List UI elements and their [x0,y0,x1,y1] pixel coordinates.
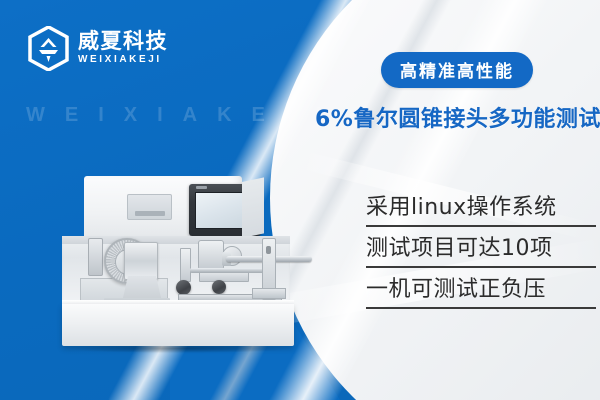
feature-label: 一机可测试正负压 [366,277,596,303]
hexagon-mountain-logo-icon [28,26,69,71]
product-image: 6%鲁尔圆锥接头多功能测试仪 ♨ [62,176,312,366]
machine-knob[interactable] [176,280,191,295]
machine-housing-side [242,177,264,238]
machine-fixture [180,248,191,282]
feature-list: 采用linux操作系统 测试项目可达10项 一机可测试正负压 [366,192,596,315]
machine-left-clamp [88,238,103,276]
hmi-brand-mark [196,186,207,189]
list-item: 测试项目可达10项 [366,233,596,274]
brand-logo-text: 威夏科技 WEIXIAKEJI [78,30,168,68]
brand-name-en: WEIXIAKEJI [78,52,168,67]
machine-knob[interactable] [212,280,226,294]
list-item: 采用linux操作系统 [366,192,596,233]
machine-base: 6%鲁尔圆锥接头多功能测试仪 ♨ [62,304,294,346]
machine-upper-housing [84,176,242,238]
list-item: 一机可测试正负压 [366,274,596,315]
banner-canvas: WEIXIAKEJI 威夏科技 WEIXIAKEJI 高精准高性能 6%鲁尔圆锥… [0,0,600,400]
highlight-badge: 高精准高性能 [381,52,533,88]
brand-name-cn: 威夏科技 [78,30,168,53]
machine-drum [124,242,158,280]
brand-logo: 威夏科技 WEIXIAKEJI [28,26,168,71]
machine-bracket-hole [266,246,271,254]
machine-bracket-foot [252,288,286,299]
brand-watermark: WEIXIAKEJI [26,104,342,127]
divider [366,225,596,227]
page-title: 6%鲁尔圆锥接头多功能测试仪 [315,101,600,133]
divider [366,307,596,309]
divider [366,266,596,268]
machine-fixture [198,240,224,270]
feature-label: 测试项目可达10项 [366,236,596,262]
feature-label: 采用linux操作系统 [366,195,596,221]
machine-panel-slot [127,194,172,220]
